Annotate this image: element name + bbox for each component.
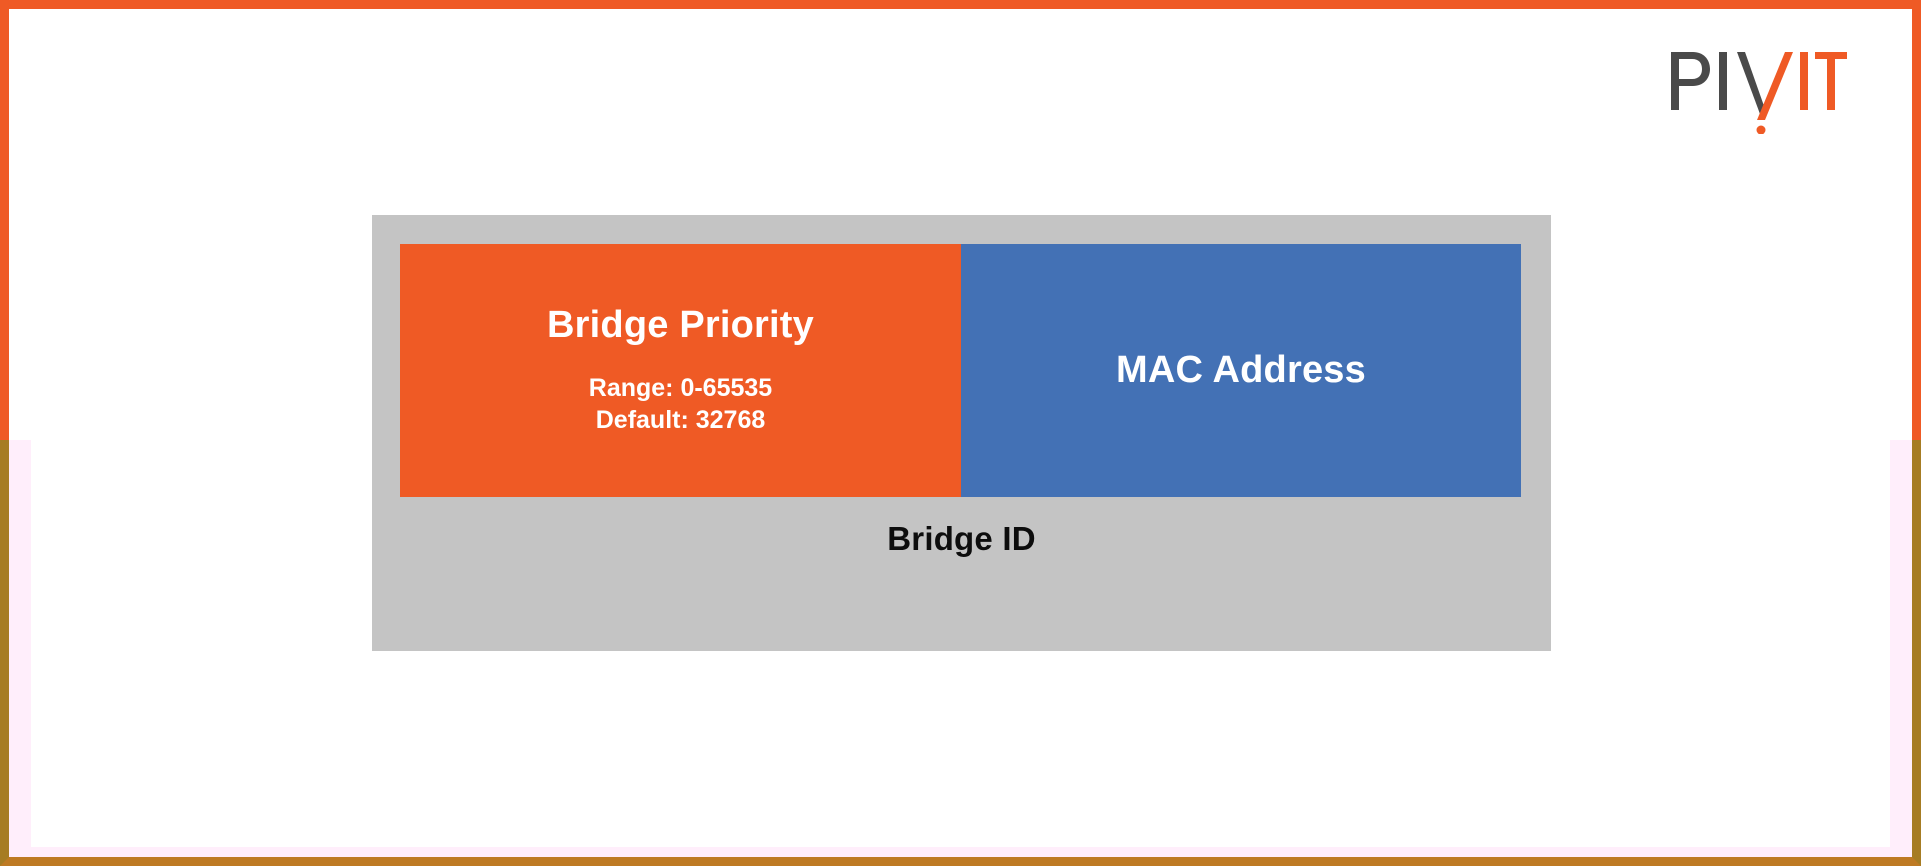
page-canvas: Bridge Priority Range: 0-65535 Default: … [0, 0, 1921, 866]
field-mac-address: MAC Address [961, 244, 1521, 497]
bridge-id-fields: Bridge Priority Range: 0-65535 Default: … [400, 244, 1521, 497]
pivit-logo-mark [1669, 44, 1849, 134]
field-bridge-priority-range: Range: 0-65535 [589, 372, 772, 404]
bridge-id-diagram: Bridge Priority Range: 0-65535 Default: … [372, 215, 1551, 651]
field-bridge-priority-title: Bridge Priority [547, 305, 814, 347]
field-bridge-priority-default: Default: 32768 [589, 404, 772, 436]
pivit-logo [1669, 44, 1849, 140]
field-bridge-priority-detail: Range: 0-65535 Default: 32768 [589, 372, 772, 436]
field-mac-address-title: MAC Address [1116, 350, 1366, 392]
page-frame-lower-strip [9, 847, 1912, 857]
bridge-id-caption: Bridge ID [372, 520, 1551, 558]
field-bridge-priority: Bridge Priority Range: 0-65535 Default: … [400, 244, 961, 497]
